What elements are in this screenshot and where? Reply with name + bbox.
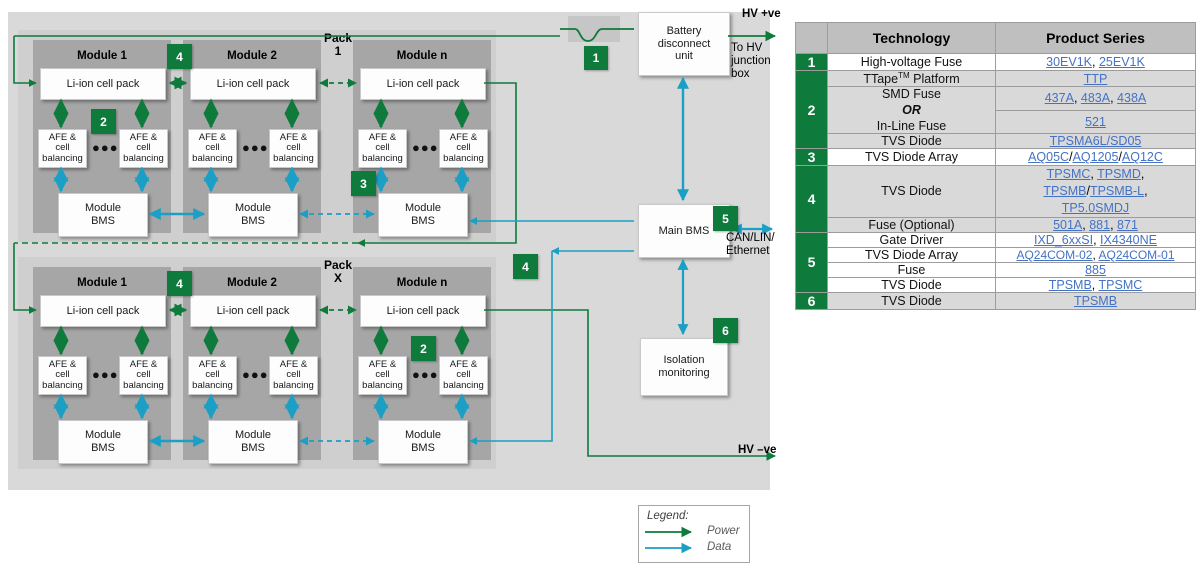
product-link[interactable]: 521 xyxy=(1085,115,1106,129)
table-row: 1 High-voltage Fuse 30EV1K, 25EV1K xyxy=(796,54,1196,71)
product-link[interactable]: 871 xyxy=(1117,218,1138,232)
badge-4-cellpack-pack1[interactable]: 4 xyxy=(167,44,192,69)
tech-tvs-diode-4: TVS Diode xyxy=(828,166,996,218)
product-link[interactable]: AQ1205 xyxy=(1073,150,1119,164)
product-link[interactable]: TPSMC xyxy=(1099,278,1143,292)
row-number-3: 3 xyxy=(796,149,828,166)
table-row: SMD Fuse OR In-Line Fuse 437A, 483A, 438… xyxy=(796,87,1196,111)
product-link[interactable]: 437A xyxy=(1045,91,1074,105)
legend-power-label: Power xyxy=(707,525,740,537)
sep: , xyxy=(1144,184,1147,198)
product-series-table-wrap: Technology Product Series 1 High-voltage… xyxy=(795,22,1195,310)
products-smd-fuse: 437A, 483A, 438A xyxy=(996,87,1196,111)
table-header-row: Technology Product Series xyxy=(796,23,1196,54)
sep: , xyxy=(1141,167,1144,181)
tech-tvs-diode-array-5: TVS Diode Array xyxy=(828,247,996,262)
can-lin-ethernet-label: CAN/LIN/ Ethernet xyxy=(726,232,775,258)
product-link[interactable]: 885 xyxy=(1085,263,1106,277)
table-row: TVS Diode TPSMA6L/SD05 xyxy=(796,134,1196,149)
legend-box: Legend: Power Data xyxy=(638,505,750,563)
tech-line-smd-fuse: SMD Fuse xyxy=(882,87,941,101)
product-link[interactable]: TPSMB xyxy=(1074,294,1117,308)
products-tvs-diode-4: TPSMC, TPSMD, TPSMB/TPSMB-L, TP5.0SMDJ xyxy=(996,166,1196,218)
product-link[interactable]: IXD_6xxSI xyxy=(1034,233,1093,247)
products-tvs-diode-5: TPSMB, TPSMC xyxy=(996,277,1196,292)
product-link[interactable]: 501A xyxy=(1053,218,1082,232)
table-row: 3 TVS Diode Array AQ05C/AQ1205/AQ12C xyxy=(796,149,1196,166)
table-row: 4 TVS Diode TPSMC, TPSMD, TPSMB/TPSMB-L,… xyxy=(796,166,1196,218)
tech-ttape-platform: TTapeTM Platform xyxy=(828,71,996,87)
product-link[interactable]: TPSMB xyxy=(1049,278,1092,292)
hv-positive-label: HV +ve xyxy=(742,8,781,21)
products-fuse-optional: 501A, 881, 871 xyxy=(996,217,1196,232)
page-root: Module 1 Module 2 Module n Pack 1 Li-ion… xyxy=(0,0,1200,571)
tech-tvs-diode-array-3: TVS Diode Array xyxy=(828,149,996,166)
header-number xyxy=(796,23,828,54)
tech-high-voltage-fuse: High-voltage Fuse xyxy=(828,54,996,71)
sep: , xyxy=(1092,278,1099,292)
to-hv-junction-box-label: To HV junction box xyxy=(731,42,771,82)
sep: , xyxy=(1110,218,1117,232)
hv-negative-label: HV –ve xyxy=(738,444,776,457)
legend-arrows xyxy=(645,526,705,560)
badge-3-module-bms[interactable]: 3 xyxy=(351,171,376,196)
tech-smd-or-inline-fuse: SMD Fuse OR In-Line Fuse xyxy=(828,87,996,134)
products-tvs-diode-array-5: AQ24COM-02, AQ24COM-01 xyxy=(996,247,1196,262)
table-row: TVS Diode TPSMB, TPSMC xyxy=(796,277,1196,292)
product-link[interactable]: 30EV1K xyxy=(1046,55,1092,69)
products-high-voltage-fuse: 30EV1K, 25EV1K xyxy=(996,54,1196,71)
legend-title: Legend: xyxy=(647,510,689,522)
tech-gate-driver: Gate Driver xyxy=(828,232,996,247)
product-link[interactable]: TP5.0SMDJ xyxy=(1062,201,1129,215)
tech-tvs-diode-row2: TVS Diode xyxy=(828,134,996,149)
row-number-5: 5 xyxy=(796,232,828,292)
product-link[interactable]: TTP xyxy=(1084,72,1108,86)
product-link[interactable]: TPSMC xyxy=(1047,167,1091,181)
product-link[interactable]: 438A xyxy=(1117,91,1146,105)
products-tvs-diode-row2: TPSMA6L/SD05 xyxy=(996,134,1196,149)
products-fuse-5: 885 xyxy=(996,262,1196,277)
sep: , xyxy=(1092,55,1099,69)
header-technology: Technology xyxy=(828,23,996,54)
badge-4-pack-interconnect[interactable]: 4 xyxy=(513,254,538,279)
row-number-6: 6 xyxy=(796,292,828,309)
badge-5-main-bms[interactable]: 5 xyxy=(713,206,738,231)
tech-line-inline-fuse: In-Line Fuse xyxy=(877,119,946,133)
bms-architecture-diagram: Module 1 Module 2 Module n Pack 1 Li-ion… xyxy=(0,0,790,571)
sep: , xyxy=(1110,91,1117,105)
badge-1-fuse[interactable]: 1 xyxy=(584,46,608,70)
products-tvs-diode-6: TPSMB xyxy=(996,292,1196,309)
badge-6-isolation[interactable]: 6 xyxy=(713,318,738,343)
tech-line-or: OR xyxy=(828,103,995,117)
product-series-table: Technology Product Series 1 High-voltage… xyxy=(795,22,1196,310)
tech-tvs-diode-5: TVS Diode xyxy=(828,277,996,292)
product-link[interactable]: TPSMB-L xyxy=(1090,184,1144,198)
row-number-2: 2 xyxy=(796,71,828,149)
badge-2-afe-packx[interactable]: 2 xyxy=(411,336,436,361)
row-number-1: 1 xyxy=(796,54,828,71)
product-link[interactable]: 881 xyxy=(1089,218,1110,232)
table-row: Fuse (Optional) 501A, 881, 871 xyxy=(796,217,1196,232)
tech-tvs-diode-6: TVS Diode xyxy=(828,292,996,309)
row-number-4: 4 xyxy=(796,166,828,233)
sep: , xyxy=(1074,91,1081,105)
tech-fuse-5: Fuse xyxy=(828,262,996,277)
table-row: 2 TTapeTM Platform TTP xyxy=(796,71,1196,87)
badge-2-afe-pack1[interactable]: 2 xyxy=(91,109,116,134)
products-gate-driver: IXD_6xxSI, IX4340NE xyxy=(996,232,1196,247)
product-link[interactable]: AQ24COM-02 xyxy=(1016,248,1092,262)
product-link[interactable]: TPSMB xyxy=(1043,184,1086,198)
header-product-series: Product Series xyxy=(996,23,1196,54)
diagram-connectors xyxy=(0,0,790,571)
product-link[interactable]: AQ12C xyxy=(1122,150,1163,164)
product-link[interactable]: AQ24COM-01 xyxy=(1099,248,1175,262)
product-link[interactable]: TPSMD xyxy=(1097,167,1141,181)
table-row: Fuse 885 xyxy=(796,262,1196,277)
products-inline-fuse: 521 xyxy=(996,110,1196,134)
trademark-mark: TM xyxy=(898,71,910,80)
table-row: TVS Diode Array AQ24COM-02, AQ24COM-01 xyxy=(796,247,1196,262)
sep: , xyxy=(1093,233,1100,247)
table-row: 6 TVS Diode TPSMB xyxy=(796,292,1196,309)
product-link[interactable]: IX4340NE xyxy=(1100,233,1157,247)
product-link[interactable]: TPSMA6L/SD05 xyxy=(1050,134,1142,148)
product-link[interactable]: 25EV1K xyxy=(1099,55,1145,69)
legend-data-label: Data xyxy=(707,541,731,553)
tech-fuse-optional: Fuse (Optional) xyxy=(828,217,996,232)
product-link[interactable]: AQ05C xyxy=(1028,150,1069,164)
product-link[interactable]: 483A xyxy=(1081,91,1110,105)
products-tvs-diode-array-3: AQ05C/AQ1205/AQ12C xyxy=(996,149,1196,166)
badge-4-cellpack-packx[interactable]: 4 xyxy=(167,271,192,296)
products-ttape-platform: TTP xyxy=(996,71,1196,87)
table-row: 5 Gate Driver IXD_6xxSI, IX4340NE xyxy=(796,232,1196,247)
